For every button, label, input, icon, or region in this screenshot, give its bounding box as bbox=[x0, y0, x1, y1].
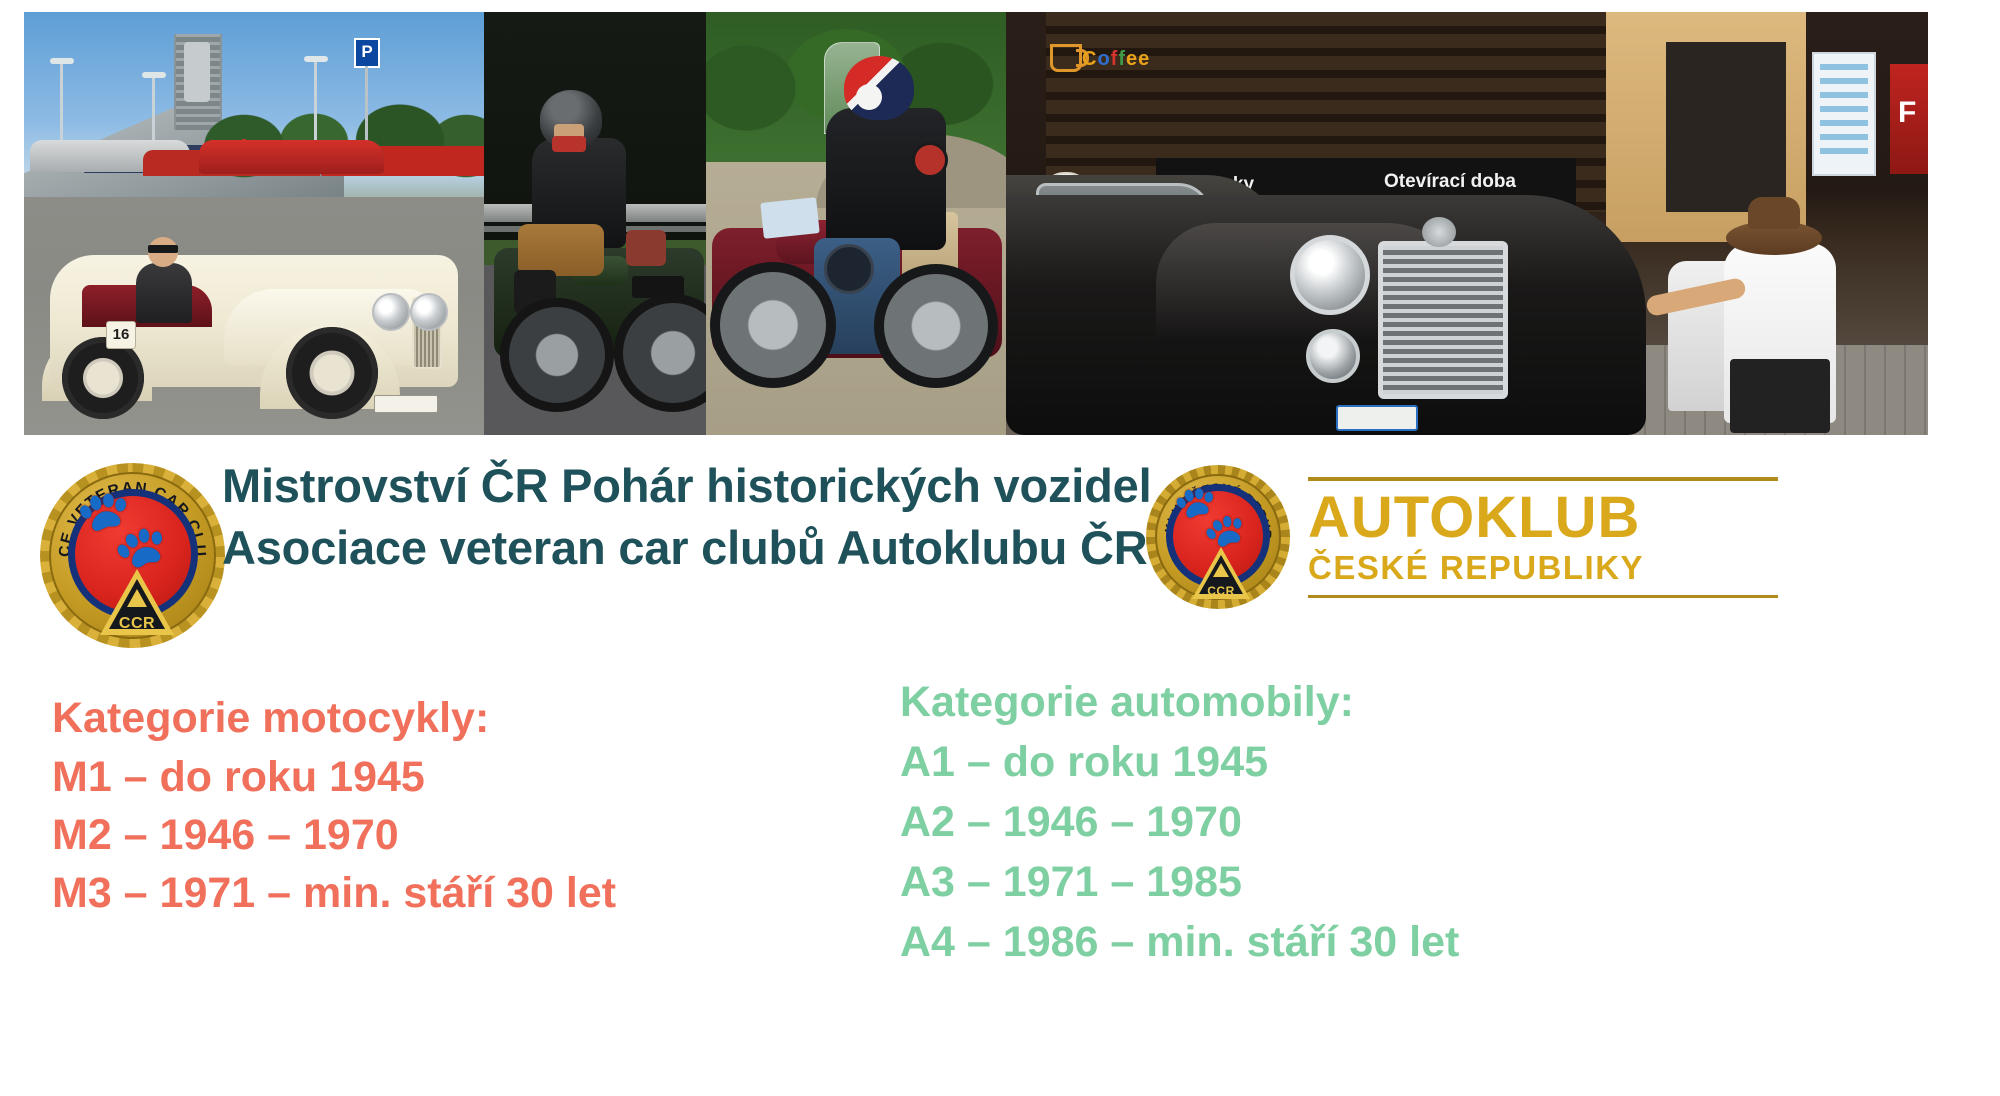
title-line-2: Asociace veteran car clubů Autoklubu ČR bbox=[222, 517, 1122, 579]
autoklub-wordmark-main: AUTOKLUB bbox=[1308, 487, 1778, 549]
photo3-wheel bbox=[874, 264, 998, 388]
photo3-knee-pad bbox=[824, 244, 874, 294]
autoklub-wordmark-sub: ČESKÉ REPUBLIKY bbox=[1308, 549, 1778, 587]
photo3-rider-jacket bbox=[826, 108, 946, 250]
photo4-poster-board bbox=[1812, 52, 1876, 176]
motorcycles-item-m2: M2 – 1946 – 1970 bbox=[52, 806, 832, 864]
motorcycles-item-m1: M1 – do roku 1945 bbox=[52, 748, 832, 806]
photo1-wheel bbox=[62, 337, 144, 419]
avcc-logo: ASOCIACE VETERAN CAR CLUBŮ AČR 🐾 CCR bbox=[40, 463, 225, 648]
category-column-automobiles: Kategorie automobily: A1 – do roku 1945 … bbox=[900, 672, 1700, 972]
photo1-parked-cars bbox=[30, 140, 190, 172]
photo-mercedes-black: Coffee ZákuskyDortyToasty Otevírací doba… bbox=[1006, 12, 1928, 435]
cafe-logo-text: Coffee bbox=[1082, 46, 1202, 72]
photo-motorcycle-maroon bbox=[706, 12, 1006, 435]
automobiles-item-a2: A2 – 1946 – 1970 bbox=[900, 792, 1700, 852]
photo4-doorway bbox=[1666, 42, 1786, 212]
motorcycles-heading: Kategorie motocykly: bbox=[52, 688, 832, 748]
photo3-map-holder bbox=[760, 197, 819, 239]
ccr-inner-triangle bbox=[1213, 563, 1229, 577]
czech-lion-icon: 🐾 bbox=[74, 487, 148, 571]
ccr-inner-triangle bbox=[127, 589, 147, 607]
ccr-label: CCR bbox=[100, 616, 174, 632]
autoklub-wordmark: AUTOKLUB ČESKÉ REPUBLIKY bbox=[1308, 477, 1778, 598]
photo4-fog-lamp bbox=[1306, 329, 1360, 383]
wordmark-rule-bottom bbox=[1308, 595, 1778, 598]
photo1-license-plate bbox=[374, 395, 438, 413]
photo1-wheel bbox=[286, 327, 378, 419]
title-line-1: Mistrovství ČR Pohár historických vozide… bbox=[222, 455, 1122, 517]
photo1-driver bbox=[136, 263, 192, 323]
photo-motorcycle-rider-dark bbox=[484, 12, 706, 435]
photo-strip: 16 bbox=[24, 12, 1928, 435]
photo1-headlamp bbox=[410, 293, 448, 331]
race-number-badge: 16 bbox=[106, 321, 136, 349]
photo4-person-white-shirt bbox=[1724, 243, 1836, 423]
parking-sign-icon bbox=[354, 38, 380, 68]
photo4-car-grille bbox=[1378, 241, 1508, 399]
page-title: Mistrovství ČR Pohár historických vozide… bbox=[222, 455, 1122, 579]
photo3-helmet bbox=[844, 56, 914, 120]
automobiles-item-a1: A1 – do roku 1945 bbox=[900, 732, 1700, 792]
photo4-red-van bbox=[1890, 64, 1928, 174]
ccr-label: CCR bbox=[1192, 585, 1250, 597]
photo1-red-cars bbox=[199, 140, 384, 174]
czech-lion-icon: 🐾 bbox=[1172, 483, 1230, 549]
wordmark-rule-top bbox=[1308, 477, 1778, 481]
photo4-license-plate bbox=[1336, 405, 1418, 431]
automobiles-item-a4: A4 – 1986 – min. stáří 30 let bbox=[900, 912, 1700, 972]
photo3-jacket-patch bbox=[912, 142, 948, 178]
photo3-wheel bbox=[710, 262, 836, 388]
photo2-rider-legs bbox=[518, 224, 604, 276]
photo4-straw-hat bbox=[1726, 221, 1822, 255]
automobiles-item-a3: A3 – 1971 – 1985 bbox=[900, 852, 1700, 912]
motorcycles-item-m3: M3 – 1971 – min. stáří 30 let bbox=[52, 864, 832, 922]
photo2-wheel bbox=[500, 298, 614, 412]
automobiles-heading: Kategorie automobily: bbox=[900, 672, 1700, 732]
autoklub-logo-badge: AUTOKLUB ČESKÉ REPUBLIKY 🐾 CCR bbox=[1146, 465, 1290, 609]
photo-vintage-roadster: 16 bbox=[24, 12, 484, 435]
photo4-headlamp bbox=[1290, 235, 1370, 315]
photo2-rider-mask bbox=[552, 136, 586, 152]
photo2-luggage bbox=[626, 230, 666, 266]
coffee-cup-icon bbox=[1050, 44, 1082, 72]
photo1-headlamp bbox=[372, 293, 410, 331]
photo4-mirror bbox=[1422, 217, 1456, 247]
category-column-motorcycles: Kategorie motocykly: M1 – do roku 1945 M… bbox=[52, 688, 832, 922]
brand-title-row: ASOCIACE VETERAN CAR CLUBŮ AČR 🐾 CCR Mis… bbox=[0, 455, 2000, 655]
